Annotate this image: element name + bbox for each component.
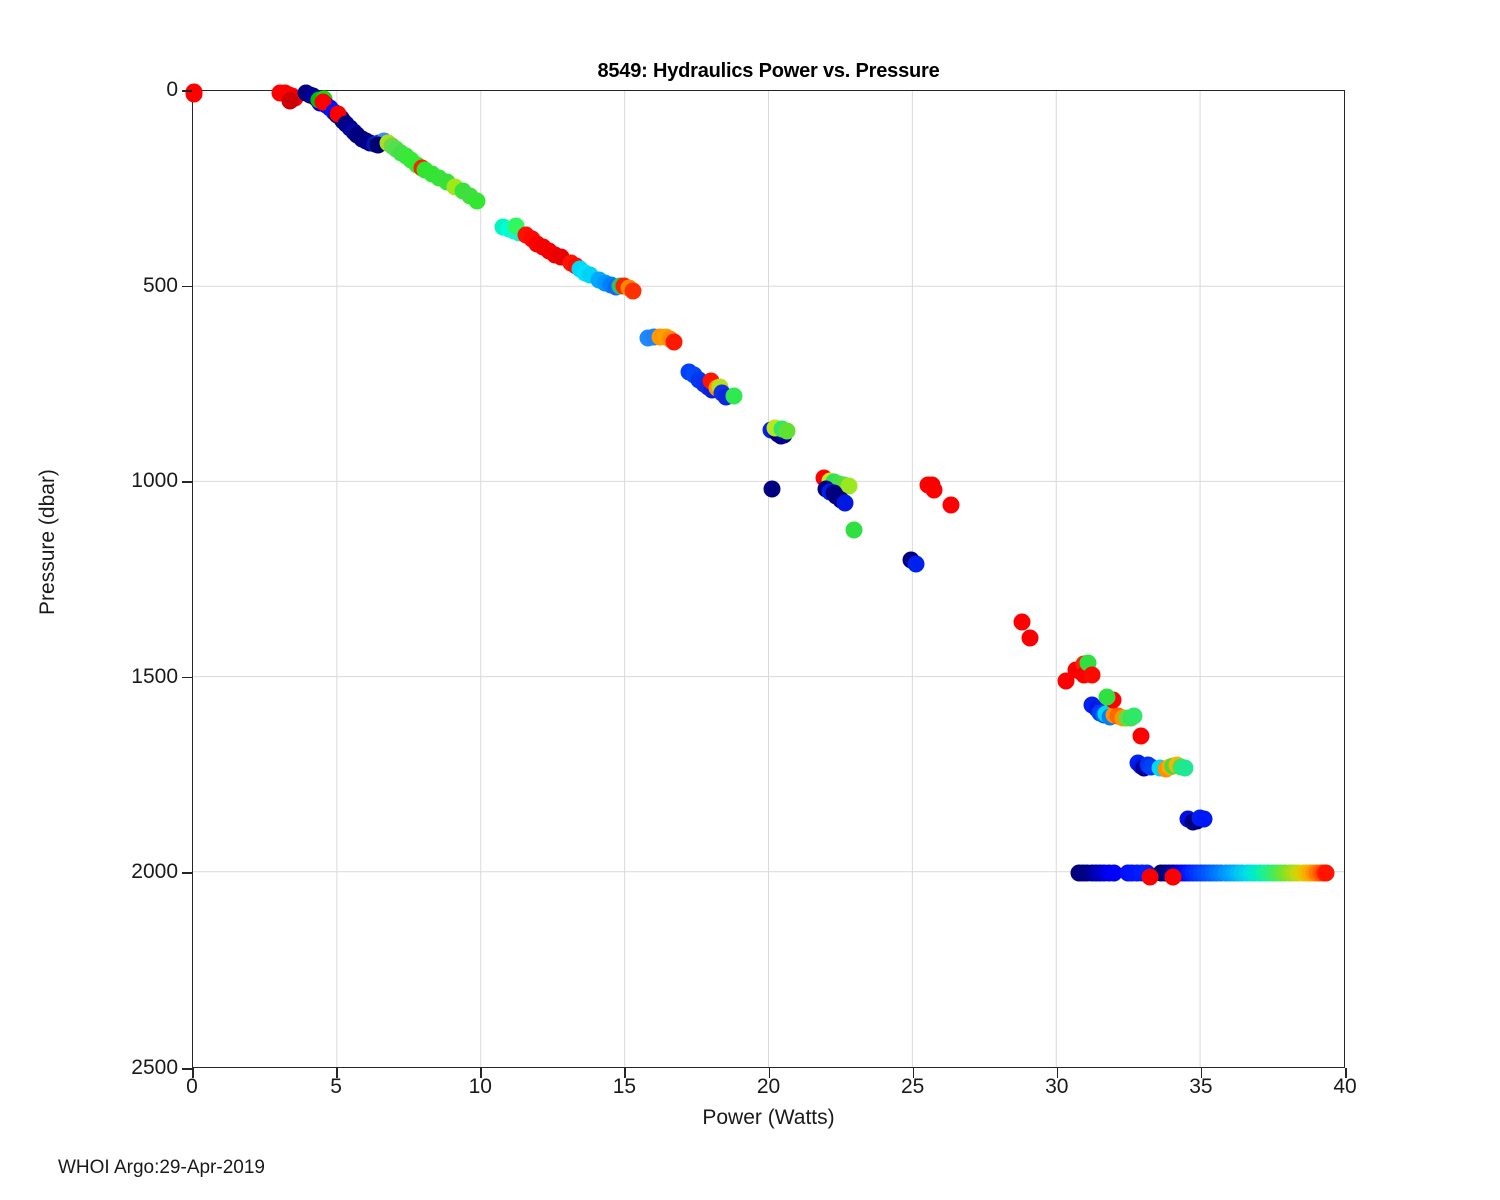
scatter-points-layer [193, 91, 1344, 1067]
x-tick-label: 0 [186, 1075, 198, 1099]
plot-area [192, 90, 1345, 1068]
data-point [943, 496, 960, 513]
y-tick-mark [182, 1068, 192, 1070]
y-tick-mark [182, 90, 192, 92]
data-point [624, 282, 641, 299]
x-tick-label: 20 [757, 1075, 780, 1099]
x-tick-mark [480, 1068, 482, 1078]
page-title: 8549: Hydraulics Power vs. Pressure [192, 60, 1345, 83]
data-point [1318, 865, 1335, 882]
data-point [1141, 869, 1158, 886]
x-tick-label: 40 [1333, 1075, 1356, 1099]
data-point [468, 193, 485, 210]
data-point [837, 494, 854, 511]
data-point [764, 481, 781, 498]
y-tick-mark [182, 481, 192, 483]
data-point [907, 555, 924, 572]
data-point [1133, 727, 1150, 744]
data-point [1196, 810, 1213, 827]
data-point [845, 521, 862, 538]
data-point [779, 423, 796, 440]
y-tick-mark [182, 677, 192, 679]
data-point [666, 334, 683, 351]
x-tick-mark [769, 1068, 771, 1078]
x-tick-label: 35 [1189, 1075, 1212, 1099]
footer-annotation: WHOI Argo:29-Apr-2019 [58, 1157, 265, 1179]
y-tick-label: 2500 [131, 1056, 178, 1080]
x-tick-mark [913, 1068, 915, 1078]
x-tick-mark [1057, 1068, 1059, 1078]
data-point [1126, 708, 1143, 725]
data-point [726, 388, 743, 405]
data-point [1099, 688, 1116, 705]
y-tick-mark [182, 286, 192, 288]
y-tick-mark [182, 872, 192, 874]
x-tick-mark [1201, 1068, 1203, 1078]
data-point [281, 93, 298, 110]
data-point [1165, 869, 1182, 886]
x-tick-mark [1345, 1068, 1347, 1078]
y-tick-label: 1000 [131, 469, 178, 493]
x-tick-mark [336, 1068, 338, 1078]
y-tick-label: 500 [143, 274, 178, 298]
x-tick-label: 30 [1045, 1075, 1068, 1099]
y-tick-label: 1500 [131, 665, 178, 689]
figure-canvas: 8549: Hydraulics Power vs. Pressure 0500… [0, 0, 1500, 1200]
x-tick-mark [192, 1068, 194, 1078]
x-tick-label: 25 [901, 1075, 924, 1099]
y-tick-label: 0 [166, 78, 178, 102]
data-point [926, 482, 943, 499]
x-axis-label: Power (Watts) [192, 1106, 1345, 1130]
y-axis-label: Pressure (dbar) [36, 262, 60, 822]
data-point [1013, 614, 1030, 631]
data-point [186, 86, 203, 103]
x-tick-mark [624, 1068, 626, 1078]
data-point [1022, 629, 1039, 646]
x-tick-label: 15 [613, 1075, 636, 1099]
x-tick-label: 5 [330, 1075, 342, 1099]
y-tick-label: 2000 [131, 860, 178, 884]
data-point [1084, 667, 1101, 684]
data-point [1176, 759, 1193, 776]
x-tick-label: 10 [469, 1075, 492, 1099]
